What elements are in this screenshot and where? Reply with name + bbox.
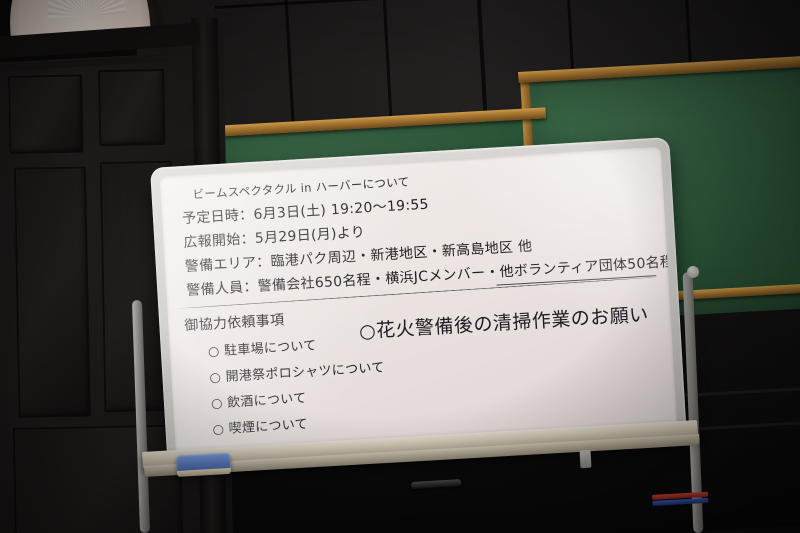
request-item-drinking: ○ 飲酒について — [210, 382, 386, 411]
cleanup-request-note: ○花火警備後の清掃作業のお願い — [358, 300, 649, 344]
tray-bracket — [579, 450, 591, 469]
whiteboard[interactable]: ビームスペクタクル in ハーバーについて 予定日時：6月3日(土) 19:20… — [150, 137, 687, 467]
whiteboard-eraser[interactable] — [176, 452, 231, 474]
request-item-parking: ○ 駐車場について — [207, 331, 383, 360]
whiteboard-bottom-section: 御協力依頼事項 ○ 駐車場について ○ 開港祭ポロシャツについて ○ 飲酒につい… — [184, 304, 388, 439]
request-item-smoking: ○ 喫煙について — [212, 408, 388, 437]
requests-heading: 御協力依頼事項 — [184, 304, 382, 336]
photo-scene: ビームスペクタクル in ハーバーについて 予定日時：6月3日(土) 19:20… — [0, 0, 800, 533]
whiteboard-frame: ビームスペクタクル in ハーバーについて 予定日時：6月3日(土) 19:20… — [150, 137, 687, 467]
door-panel — [13, 425, 183, 533]
door-panel — [98, 69, 165, 146]
door-panel — [14, 166, 91, 417]
door-panel — [8, 74, 83, 153]
whiteboard-surface[interactable]: ビームスペクタクル in ハーバーについて 予定日時：6月3日(土) 19:20… — [160, 147, 678, 458]
stand-leg-cap — [687, 266, 699, 278]
request-item-polo-shirt: ○ 開港祭ポロシャツについて — [209, 356, 385, 385]
